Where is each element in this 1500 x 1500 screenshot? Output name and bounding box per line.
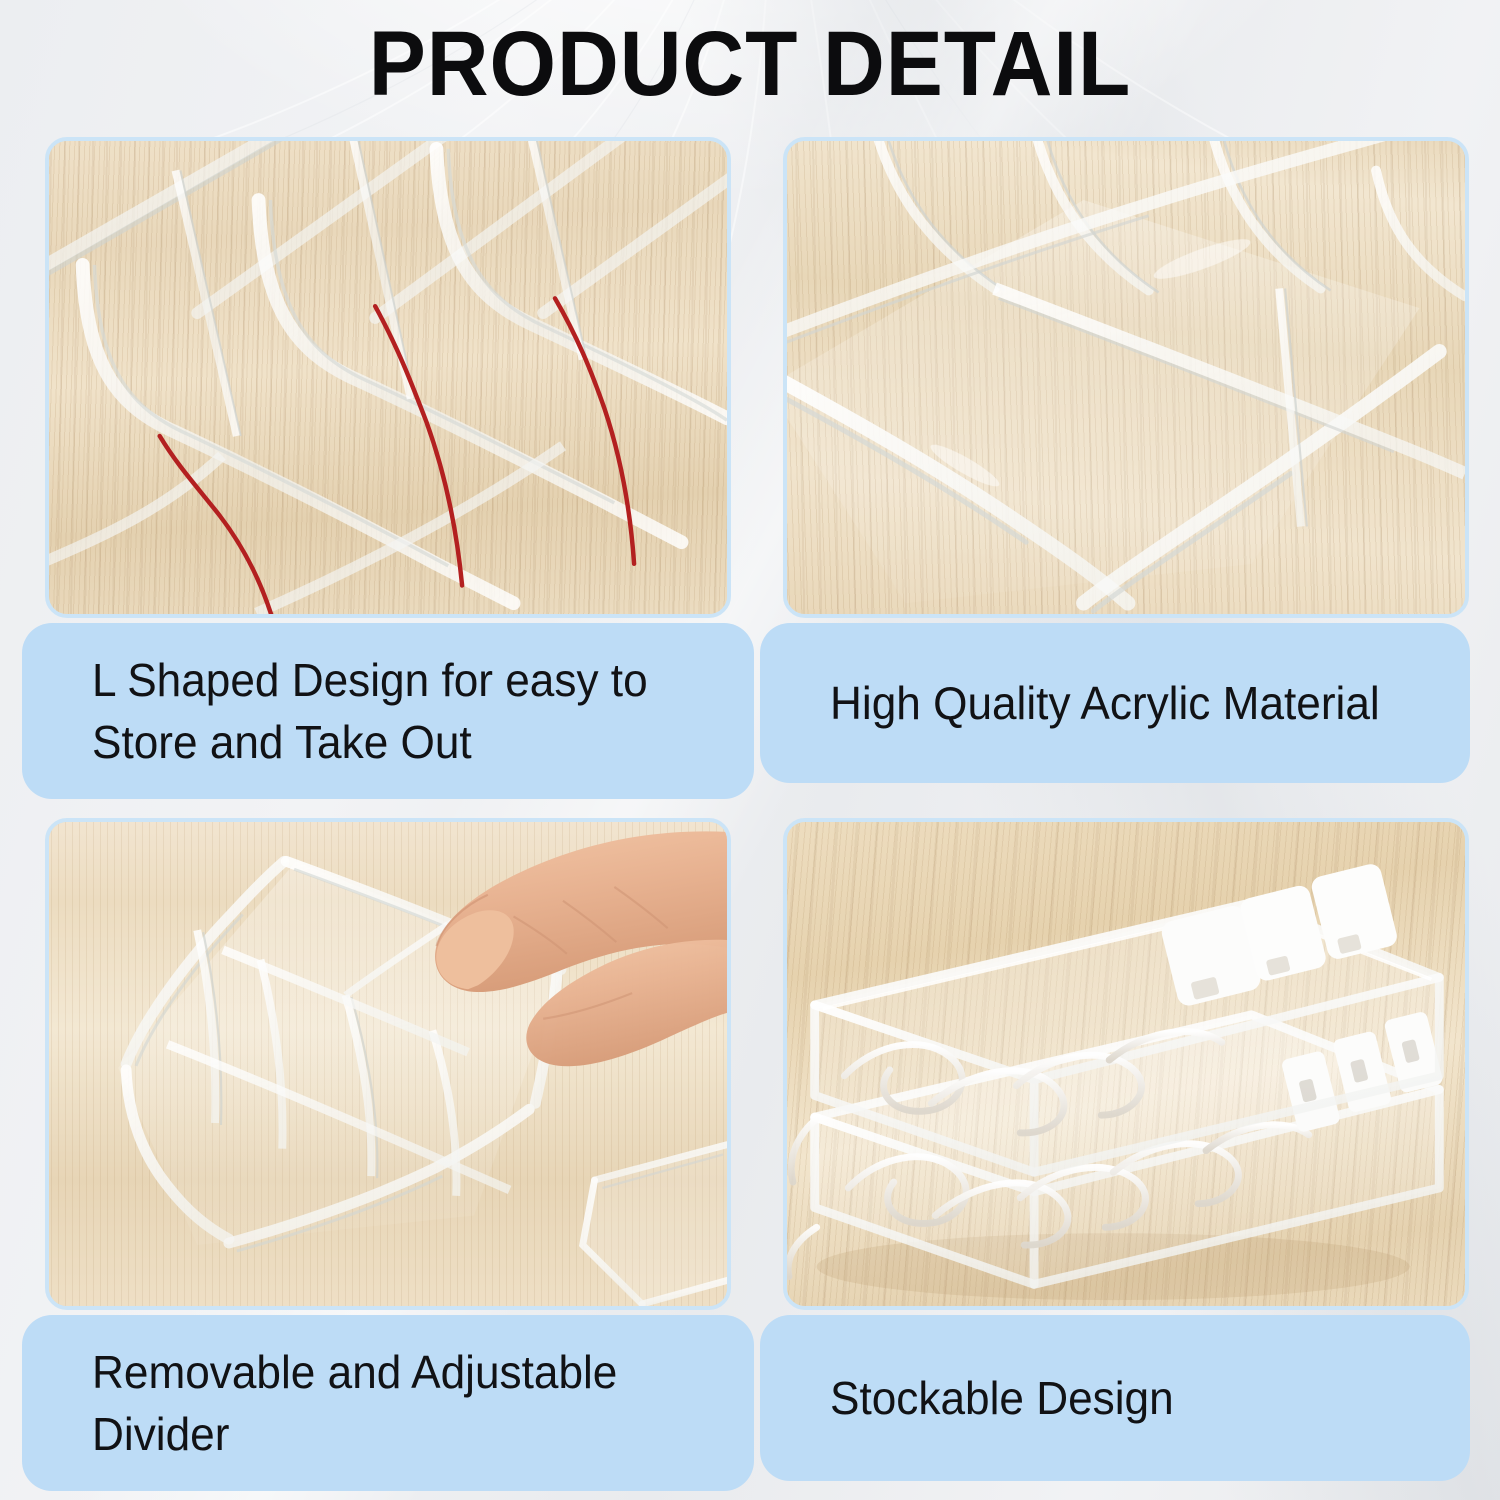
- card-stockable-design: Stockable Design: [760, 818, 1470, 1481]
- caption-acrylic-material: High Quality Acrylic Material: [760, 623, 1470, 783]
- caption-stockable-design: Stockable Design: [760, 1315, 1470, 1481]
- caption-text: High Quality Acrylic Material: [830, 672, 1380, 734]
- l-shaped-divider-illustration: [49, 141, 727, 614]
- caption-removable-divider: Removable and Adjustable Divider: [22, 1315, 754, 1491]
- detached-divider: [583, 1145, 727, 1306]
- product-detail-page: PRODUCT DETAIL: [0, 0, 1500, 1500]
- caption-l-shaped-design: L Shaped Design for easy to Store and Ta…: [22, 623, 754, 799]
- photo-stockable-design: [783, 818, 1469, 1310]
- caption-text: Stockable Design: [830, 1367, 1174, 1429]
- photo-l-shaped-design: [45, 137, 731, 618]
- card-l-shaped-design: L Shaped Design for easy to Store and Ta…: [22, 137, 754, 799]
- card-acrylic-material: High Quality Acrylic Material: [760, 137, 1470, 783]
- photo-removable-divider: [45, 818, 731, 1310]
- photo-acrylic-material: [783, 137, 1469, 618]
- hand-removing-divider-illustration: [49, 822, 727, 1306]
- card-removable-divider: Removable and Adjustable Divider: [22, 818, 754, 1491]
- stacked-boxes-illustration: [787, 822, 1465, 1306]
- caption-text: Removable and Adjustable Divider: [92, 1341, 689, 1465]
- caption-text: L Shaped Design for easy to Store and Ta…: [92, 649, 689, 773]
- page-title: PRODUCT DETAIL: [53, 16, 1448, 112]
- acrylic-corner-illustration: [787, 141, 1465, 614]
